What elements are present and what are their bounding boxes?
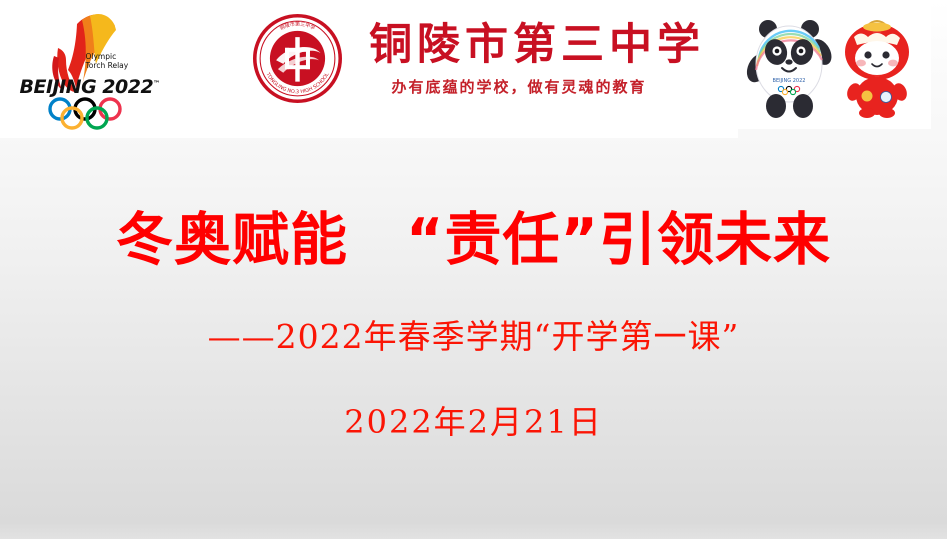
mascots-block: BEIJING 2022 xyxy=(738,0,931,129)
school-name: 铜陵市第三中学 xyxy=(369,18,669,72)
school-wordmark: 铜陵市第三中学 办有底蕴的学校，做有灵魂的教育 xyxy=(369,18,669,97)
school-seal-icon: 铜陵市第三中学 TONGLING NO.3 HIGH SCHOOL xyxy=(253,14,342,103)
slide-subtitle: ——2022年春季学期“开学第一课” xyxy=(0,314,947,360)
torch-relay-subtitle: Olympic Torch Relay xyxy=(86,52,146,70)
school-identity-block: 铜陵市第三中学 TONGLING NO.3 HIGH SCHOOL 铜陵市第三中… xyxy=(169,0,738,138)
svg-text:BEIJING 2022: BEIJING 2022 xyxy=(773,78,806,84)
presentation-slide: Olympic Torch Relay BEIJING 2022™ xyxy=(0,0,947,539)
shuey-rhon-rhon-mascot-icon xyxy=(834,12,920,122)
torch-relay-subtitle-line1: Olympic xyxy=(86,52,146,61)
beijing-2022-wordmark-text: BEIJING 2022 xyxy=(20,76,154,98)
svg-text:铜陵市第三中学: 铜陵市第三中学 xyxy=(279,21,317,32)
school-motto: 办有底蕴的学校，做有灵魂的教育 xyxy=(369,76,669,97)
torch-relay-subtitle-line2: Torch Relay xyxy=(86,61,146,70)
beijing-2022-torch-relay-logo-icon: Olympic Torch Relay BEIJING 2022™ xyxy=(20,4,150,134)
slide-main-title: 冬奥赋能 “责任”引领未来 xyxy=(0,203,947,277)
trademark-symbol: ™ xyxy=(153,80,160,88)
torch-relay-logo-block: Olympic Torch Relay BEIJING 2022™ xyxy=(0,0,169,138)
bing-dwen-dwen-mascot-icon: BEIJING 2022 xyxy=(746,12,832,122)
beijing-2022-wordmark: BEIJING 2022™ xyxy=(20,76,150,98)
slide-date: 2022年2月21日 xyxy=(0,399,947,445)
